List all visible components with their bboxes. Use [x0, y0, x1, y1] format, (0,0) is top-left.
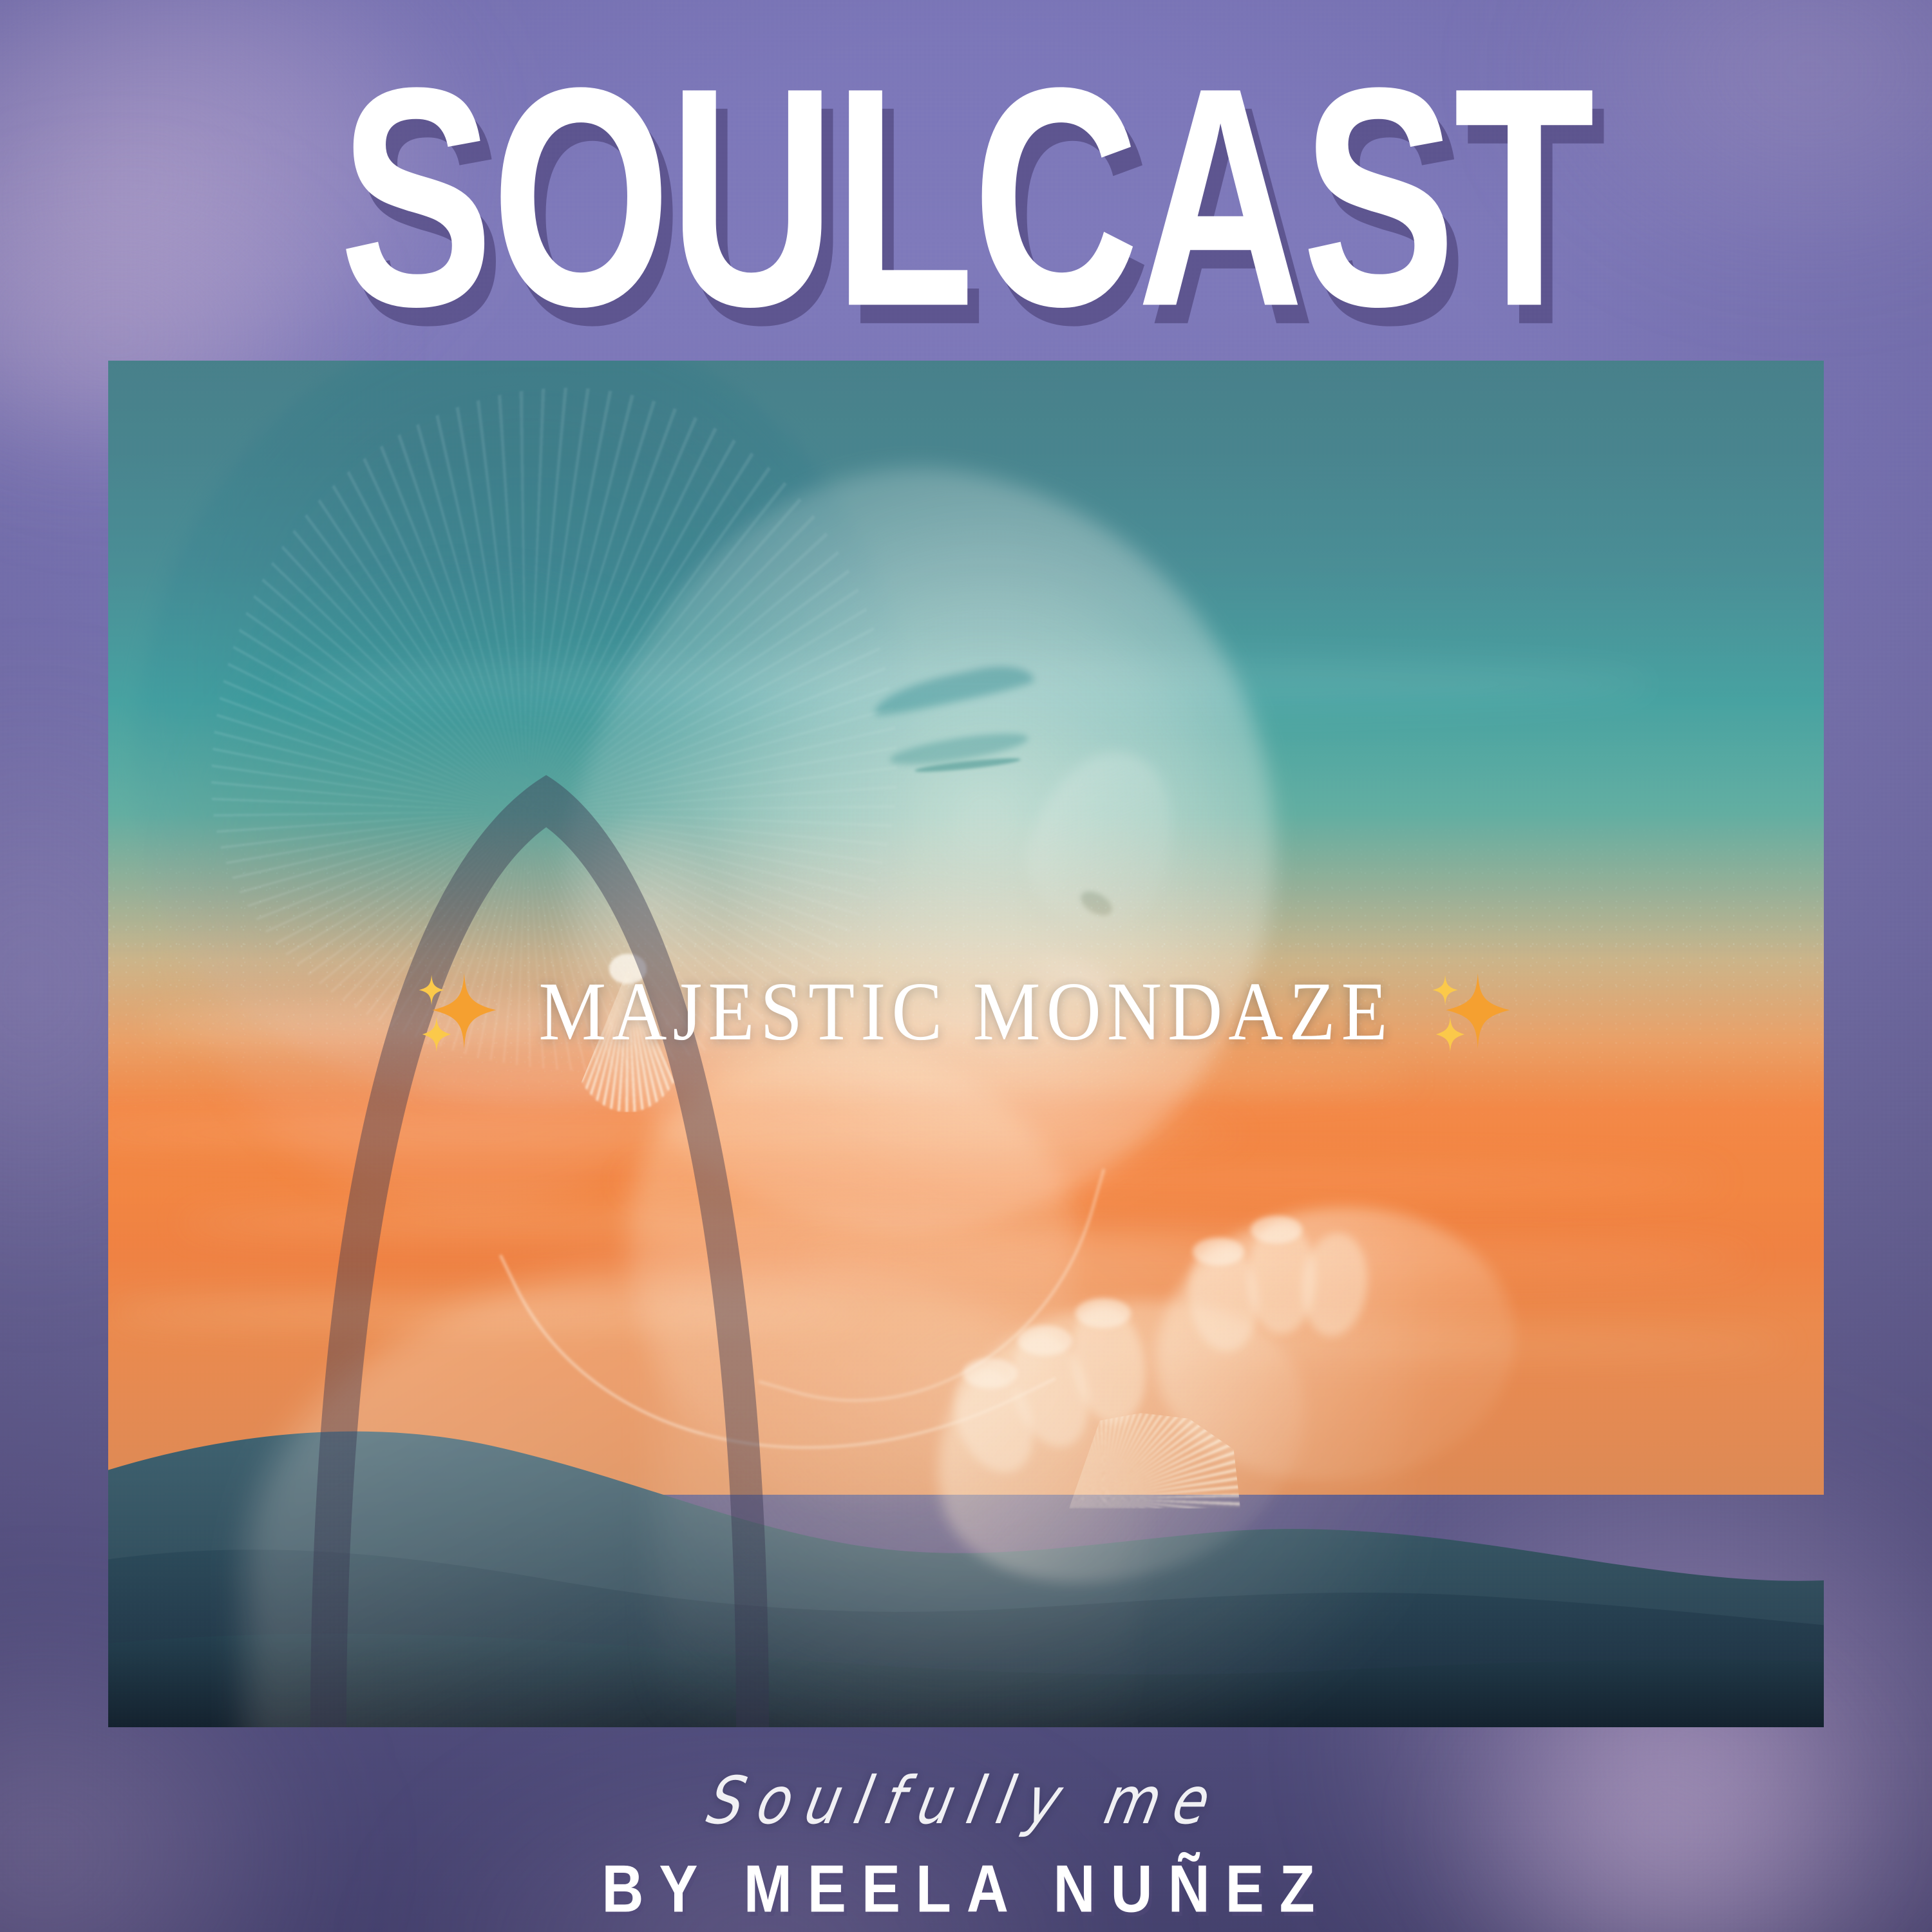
byline-host-name: BY MEELA NUÑEZ: [77, 1855, 1855, 1932]
cover-artwork-photo: [108, 361, 1824, 1727]
show-title: SOULCAST: [339, 76, 1593, 319]
arch-silhouette: [160, 661, 880, 1727]
arch-silhouette-shape: [160, 661, 880, 1727]
tagline: Soulfully me: [0, 1768, 1932, 1833]
show-title-block: SOULCAST: [0, 76, 1932, 297]
footer-block: Soulfully me BY MEELA NUÑEZ: [0, 1774, 1932, 1932]
